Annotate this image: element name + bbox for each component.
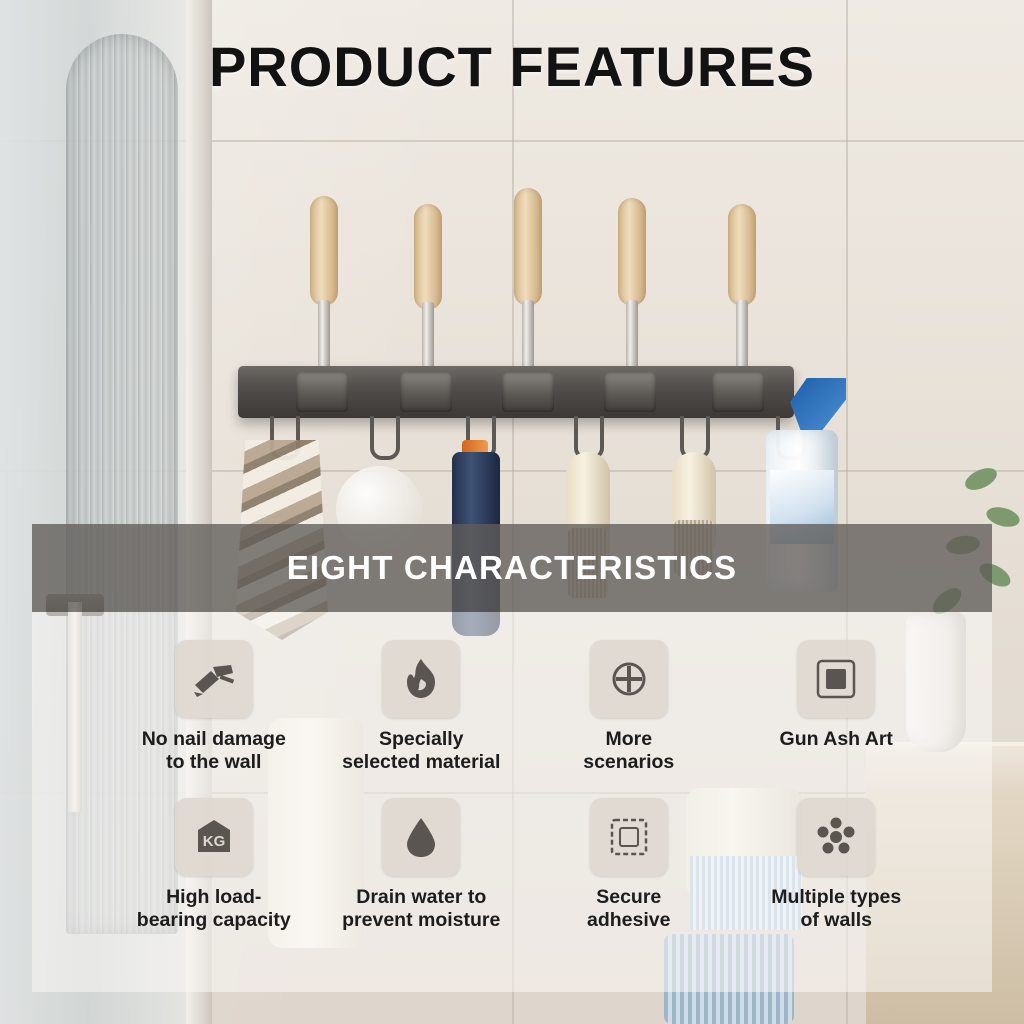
mop-grip [514,188,542,306]
rack-slot [296,372,348,412]
rack-hook [370,416,400,460]
feature-caption-line1: No nail damage [142,728,286,750]
rack-slot [604,372,656,412]
water-drop-icon-glyph [403,815,439,859]
feature-item: Secure adhesive [525,798,733,932]
feature-caption-line2: of walls [800,909,872,931]
feature-caption-line1: Multiple types [771,886,901,908]
feature-caption-line1: Specially [379,728,464,750]
feature-item: KG High load- bearing capacity [110,798,318,932]
rack-slot [400,372,452,412]
kg-label: KG [203,833,226,850]
feature-caption-line2: adhesive [587,909,670,931]
rack-slot [712,372,764,412]
mop-grip [310,196,338,306]
feature-caption-line1: Drain water to [356,886,486,908]
feature-caption: Gun Ash Art [780,728,893,751]
mop-grip [414,204,442,310]
feature-caption: High load- bearing capacity [137,886,291,932]
feature-caption-line1: Gun Ash Art [780,728,893,750]
feature-item: Drain water to prevent moisture [318,798,526,932]
target-plus-icon-glyph [607,657,651,701]
feature-caption-line2: prevent moisture [342,909,500,931]
nail-hammer-icon [175,640,253,718]
rack-slot [502,372,554,412]
feature-caption: No nail damage to the wall [142,728,286,774]
feature-caption: Drain water to prevent moisture [342,886,500,932]
water-drop-icon [382,798,460,876]
flame-icon [382,640,460,718]
product-feature-image: PRODUCT FEATURES EIGHT CHARACTERISTICS N… [0,0,1024,1024]
flame-icon-glyph [401,657,441,701]
feature-item: No nail damage to the wall [110,640,318,774]
feature-caption-line2: to the wall [166,751,261,773]
feature-caption-line2: scenarios [583,751,674,773]
adhesive-square-icon [590,798,668,876]
feature-caption: Multiple types of walls [771,886,901,932]
nail-hammer-icon-glyph [191,659,237,699]
feature-caption-line1: More [605,728,652,750]
feature-item: Gun Ash Art [733,640,941,774]
weight-kg-icon-glyph: KG [192,816,236,858]
adhesive-square-icon-glyph [608,816,650,858]
feature-caption-line1: High load- [166,886,261,908]
band-title: EIGHT CHARACTERISTICS [287,549,738,587]
features-grid: No nail damage to the wall Specially sel… [110,640,940,932]
feature-item: Specially selected material [318,640,526,774]
feature-caption-line2: bearing capacity [137,909,291,931]
target-plus-icon [590,640,668,718]
flower-wall-icon [797,798,875,876]
page-title: PRODUCT FEATURES [0,34,1024,99]
feature-item: Multiple types of walls [733,798,941,932]
square-swatch-icon [797,640,875,718]
mop-grip [618,198,646,306]
weight-kg-icon: KG [175,798,253,876]
feature-caption: Specially selected material [342,728,500,774]
mop-grip [728,204,756,306]
feature-caption-line1: Secure [596,886,661,908]
square-swatch-icon-glyph [815,658,857,700]
flower-wall-icon-glyph [814,815,858,859]
feature-caption: Secure adhesive [587,886,670,932]
characteristics-band: EIGHT CHARACTERISTICS [32,524,992,612]
feature-caption: More scenarios [583,728,674,774]
feature-item: More scenarios [525,640,733,774]
feature-caption-line2: selected material [342,751,500,773]
